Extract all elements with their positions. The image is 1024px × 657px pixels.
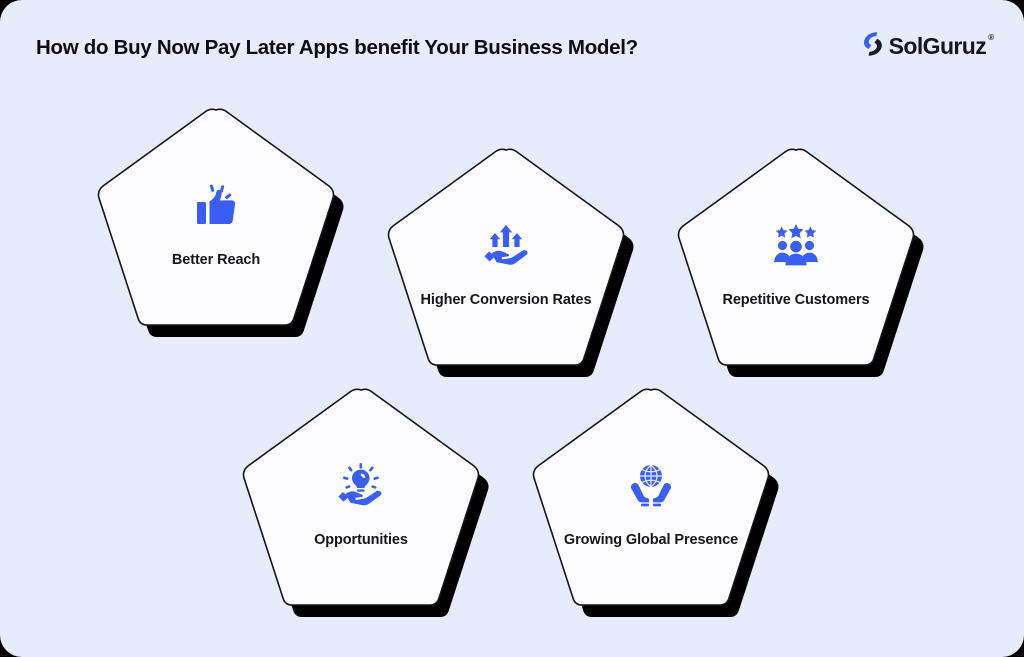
benefit-card-opportunities[interactable]: Opportunities bbox=[241, 384, 491, 632]
benefit-card-better-reach[interactable]: Better Reach bbox=[96, 104, 346, 352]
benefit-card-higher-conversion-rates[interactable]: Higher Conversion Rates bbox=[386, 144, 636, 392]
pentagon-shape bbox=[241, 384, 491, 632]
registered-trademark-symbol: ® bbox=[988, 33, 994, 42]
solguruz-s-monogram-icon bbox=[860, 30, 886, 63]
pentagon-shape bbox=[676, 144, 926, 392]
benefit-card-growing-global-presence[interactable]: Growing Global Presence bbox=[531, 384, 781, 632]
page-title: How do Buy Now Pay Later Apps benefit Yo… bbox=[36, 36, 638, 60]
brand-logo: SolGuruz ® bbox=[860, 30, 994, 63]
header: How do Buy Now Pay Later Apps benefit Yo… bbox=[0, 0, 1024, 92]
pentagon-shape bbox=[96, 104, 346, 352]
pentagon-shape bbox=[386, 144, 636, 392]
logo-wordmark: SolGuruz bbox=[889, 35, 986, 58]
pentagon-shape bbox=[531, 384, 781, 632]
infographic-canvas: How do Buy Now Pay Later Apps benefit Yo… bbox=[0, 0, 1024, 657]
benefit-card-repetitive-customers[interactable]: Repetitive Customers bbox=[676, 144, 926, 392]
